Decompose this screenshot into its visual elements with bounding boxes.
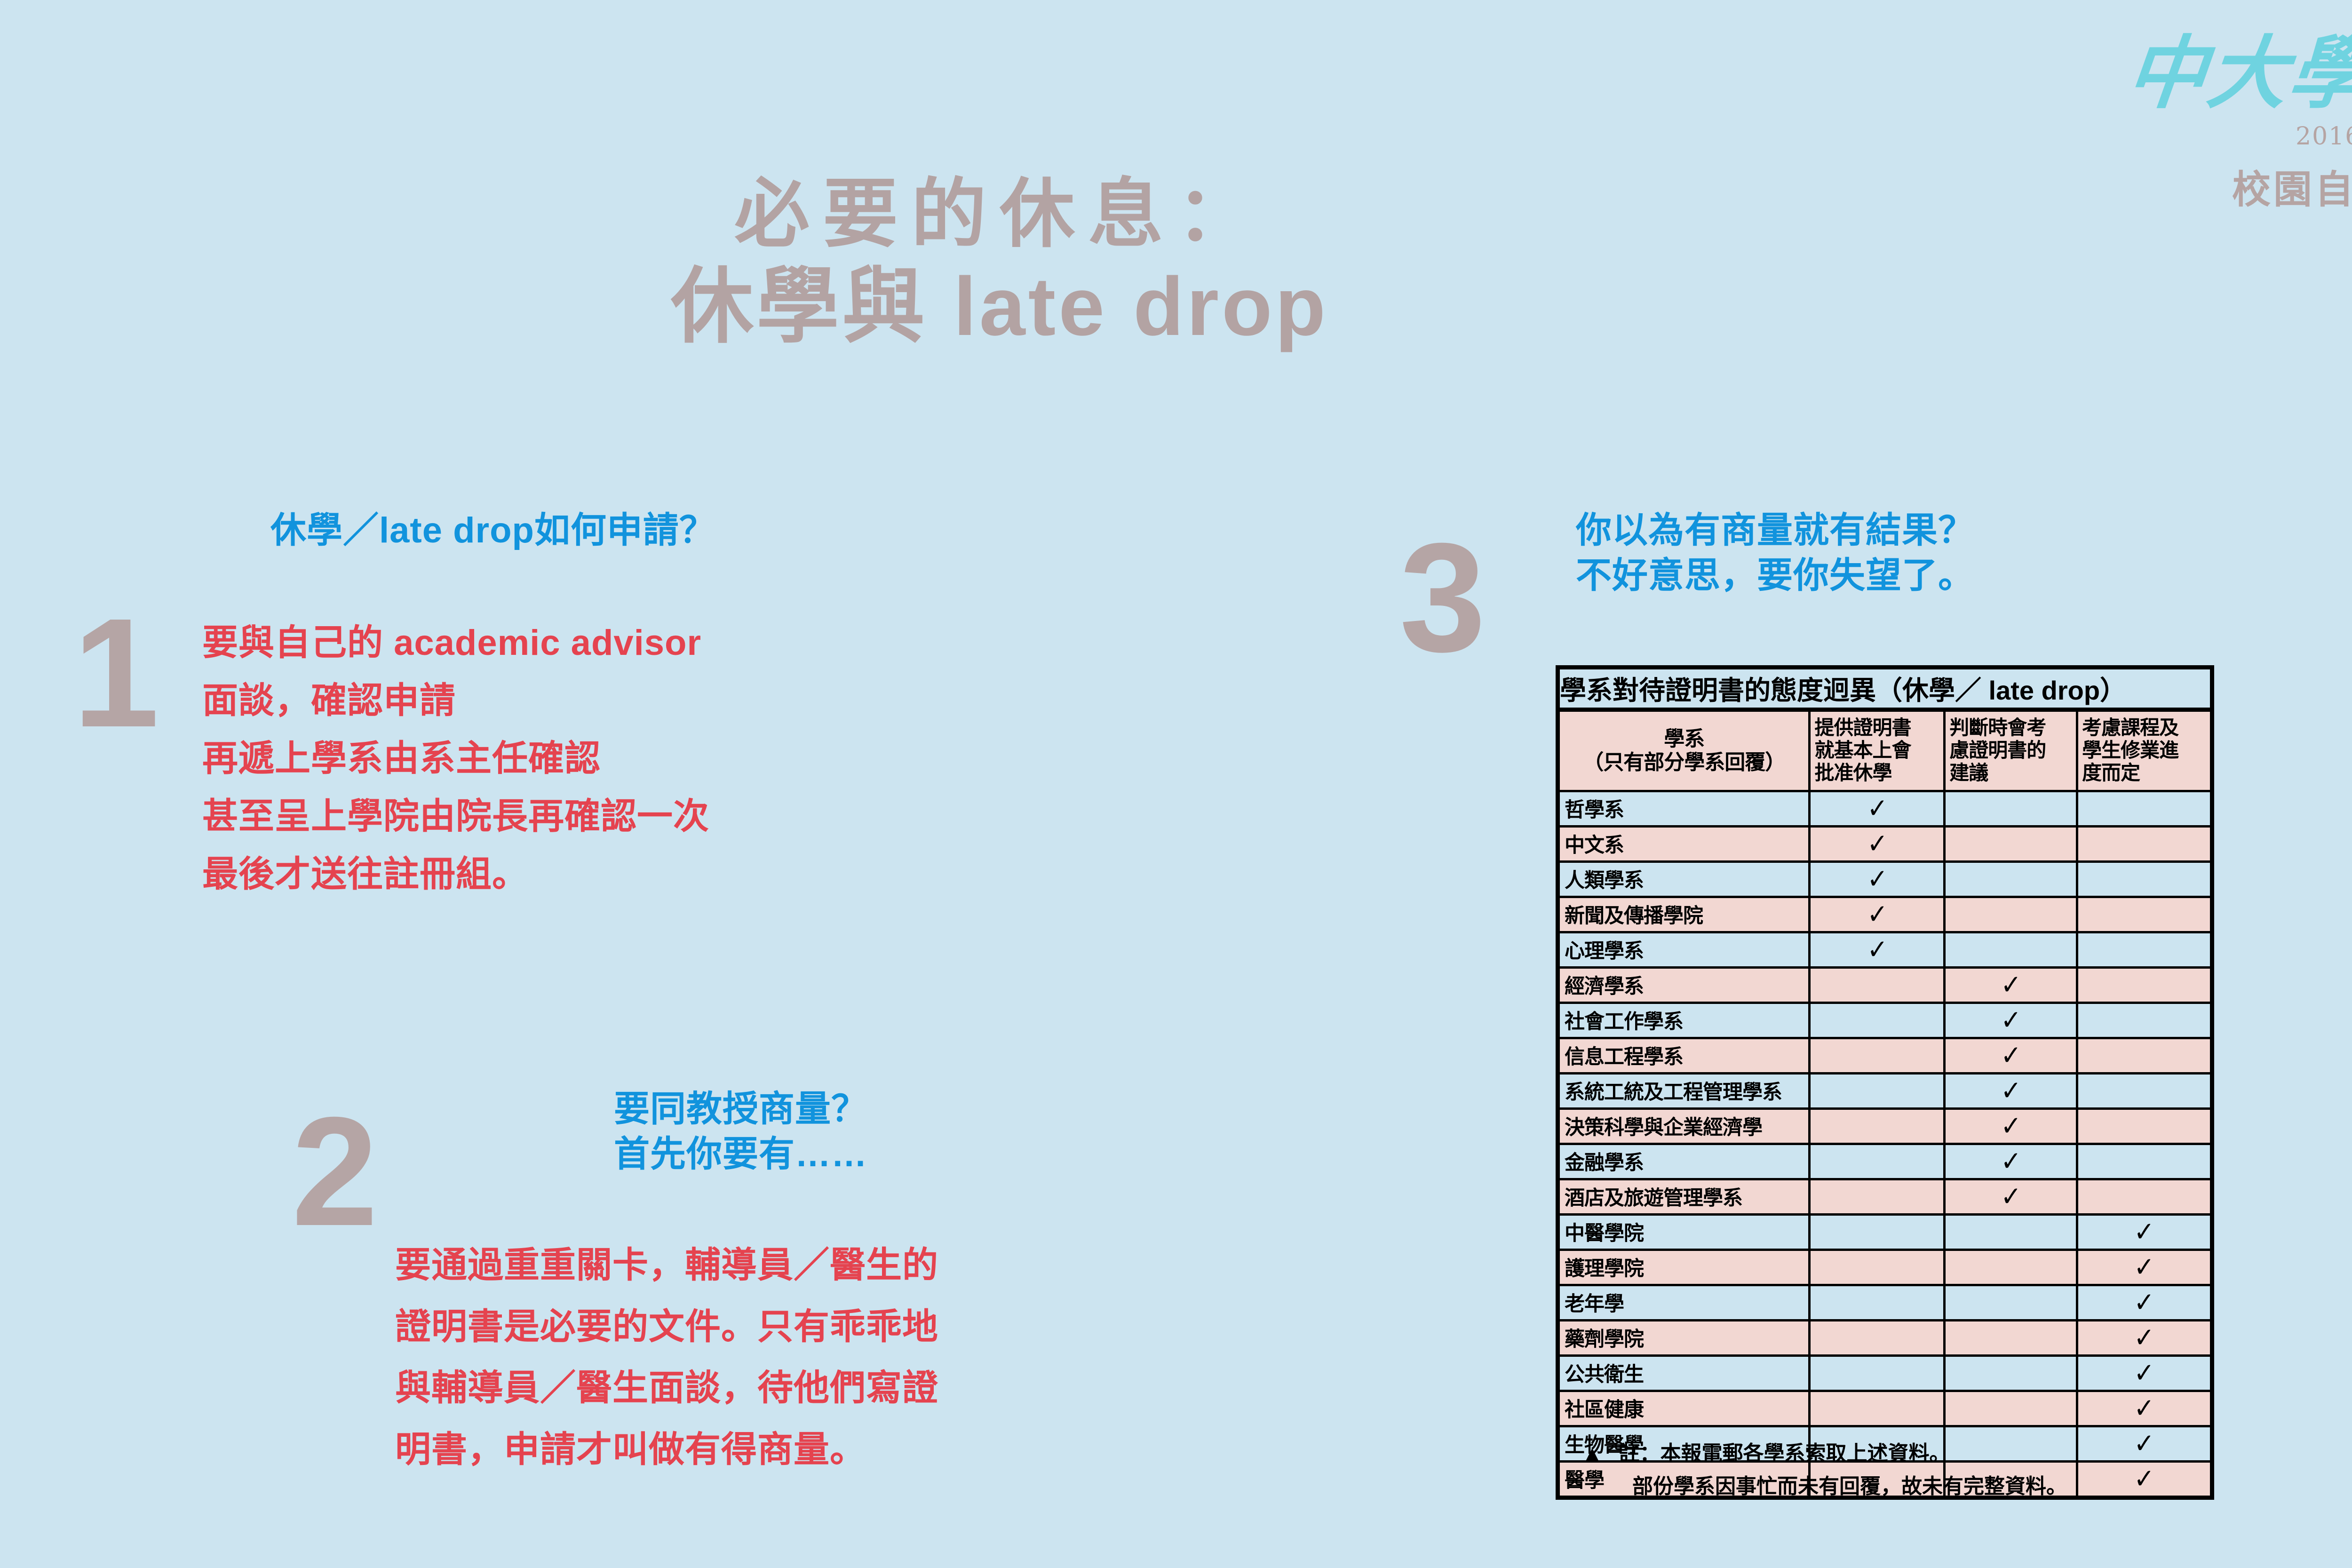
check-icon: ✓ bbox=[1867, 937, 1887, 962]
publication-logo: 中大學生報 bbox=[2123, 33, 2352, 113]
table-row: 中醫學院✓ bbox=[1558, 1214, 2212, 1250]
table-row: 人類學系✓ bbox=[1558, 861, 2212, 897]
issue-date: 2016 年 4 月號 bbox=[2123, 116, 2352, 151]
department-name-cell: 中文系 bbox=[1558, 826, 1810, 861]
department-name-cell: 藥劑學院 bbox=[1558, 1320, 1810, 1355]
approve-with-certificate-cell bbox=[1810, 1391, 1945, 1426]
step-heading-3: 你以為有商量就有結果？ 不好意思，要你失望了。 bbox=[1576, 508, 1974, 598]
depends-on-progress-cell: ✓ bbox=[2077, 1320, 2212, 1355]
department-name-cell: 新聞及傳播學院 bbox=[1558, 897, 1810, 932]
department-name-cell: 心理學系 bbox=[1558, 932, 1810, 967]
consider-certificate-advice-cell bbox=[1945, 897, 2077, 932]
check-icon: ✓ bbox=[2001, 1008, 2021, 1032]
department-name-cell: 社區健康 bbox=[1558, 1391, 1810, 1426]
table-caption-row: 學系對待證明書的態度迥異（休學／ late drop） bbox=[1558, 668, 2212, 710]
step-1-line: 面談，確認申請 bbox=[202, 672, 709, 730]
depends-on-progress-cell: ✓ bbox=[2077, 1250, 2212, 1285]
page-title: 必要的休息： 休學與 late drop bbox=[0, 172, 1999, 353]
table-row: 哲學系✓ bbox=[1558, 791, 2212, 826]
check-icon: ✓ bbox=[2001, 972, 2021, 997]
table-row: 系統工統及工程管理學系✓ bbox=[1558, 1073, 2212, 1108]
check-icon: ✓ bbox=[1867, 831, 1887, 856]
approve-with-certificate-cell bbox=[1810, 1320, 1945, 1355]
depends-on-progress-cell bbox=[2077, 1003, 2212, 1038]
department-name-cell: 信息工程學系 bbox=[1558, 1038, 1810, 1073]
department-name-cell: 社會工作學系 bbox=[1558, 1003, 1810, 1038]
step-body-2: 要通過重重關卡，輔導員／醫生的 證明書是必要的文件。只有乖乖地 與輔導員／醫生面… bbox=[395, 1235, 938, 1481]
table-row: 酒店及旅遊管理學系✓ bbox=[1558, 1179, 2212, 1214]
consider-certificate-advice-cell bbox=[1945, 1355, 2077, 1391]
table-row: 新聞及傳播學院✓ bbox=[1558, 897, 2212, 932]
depends-on-progress-cell: ✓ bbox=[2077, 1355, 2212, 1391]
table-row: 藥劑學院✓ bbox=[1558, 1320, 2212, 1355]
check-icon: ✓ bbox=[2134, 1431, 2154, 1456]
triangle-icon: ▲ bbox=[1581, 1437, 1603, 1470]
depends-on-progress-cell bbox=[2077, 861, 2212, 897]
table-footnote: ▲ 註：本報電郵各學系索取上述資料。 部份學系因事忙而未有回覆，故未有完整資料。 bbox=[1581, 1437, 2067, 1503]
table-row: 老年學✓ bbox=[1558, 1285, 2212, 1320]
department-name-cell: 公共衛生 bbox=[1558, 1355, 1810, 1391]
approve-with-certificate-cell bbox=[1810, 1355, 1945, 1391]
department-name-cell: 中醫學院 bbox=[1558, 1214, 1810, 1250]
step-number-1: 1 bbox=[73, 609, 159, 737]
approve-with-certificate-cell: ✓ bbox=[1810, 932, 1945, 967]
step-body-1: 要與自己的 academic advisor 面談，確認申請 再遞上學系由系主任… bbox=[202, 614, 709, 904]
department-name-cell: 決策科學與企業經濟學 bbox=[1558, 1108, 1810, 1144]
approve-with-certificate-cell bbox=[1810, 967, 1945, 1003]
step-2-line: 與輔導員／醫生面談，待他們寫證 bbox=[395, 1358, 938, 1419]
step-number-2: 2 bbox=[292, 1108, 378, 1235]
depends-on-progress-cell bbox=[2077, 826, 2212, 861]
check-icon: ✓ bbox=[2134, 1396, 2154, 1420]
department-name-cell: 人類學系 bbox=[1558, 861, 1810, 897]
footnote-line-1-row: ▲ 註：本報電郵各學系索取上述資料。 bbox=[1581, 1437, 2067, 1470]
depends-on-progress-cell bbox=[2077, 1073, 2212, 1108]
depends-on-progress-cell bbox=[2077, 932, 2212, 967]
step-1-line: 最後才送往註冊組。 bbox=[202, 845, 709, 903]
check-icon: ✓ bbox=[2134, 1290, 2154, 1314]
step-heading-1: 休學／late drop如何申請？ bbox=[270, 508, 715, 553]
check-icon: ✓ bbox=[1867, 867, 1887, 891]
department-name-cell: 老年學 bbox=[1558, 1285, 1810, 1320]
table-row: 社區健康✓ bbox=[1558, 1391, 2212, 1426]
check-icon: ✓ bbox=[2134, 1361, 2154, 1385]
approve-with-certificate-cell bbox=[1810, 1144, 1945, 1179]
masthead: 中大學生報 2016 年 4 月號 校園自殺專題 bbox=[2123, 33, 2352, 214]
department-name-cell: 護理學院 bbox=[1558, 1250, 1810, 1285]
department-name-cell: 系統工統及工程管理學系 bbox=[1558, 1073, 1810, 1108]
footnote-line-1: 註：本報電郵各學系索取上述資料。 bbox=[1619, 1437, 1950, 1470]
consider-certificate-advice-cell bbox=[1945, 1285, 2077, 1320]
approve-with-certificate-cell: ✓ bbox=[1810, 861, 1945, 897]
consider-certificate-advice-cell: ✓ bbox=[1945, 1179, 2077, 1214]
column-header-consider-certificate-advice: 判斷時會考 慮證明書的 建議 bbox=[1945, 710, 2077, 791]
check-icon: ✓ bbox=[2001, 1149, 2021, 1173]
table-row: 心理學系✓ bbox=[1558, 932, 2212, 967]
step-1-line: 再遞上學系由系主任確認 bbox=[202, 730, 709, 788]
approve-with-certificate-cell bbox=[1810, 1285, 1945, 1320]
table-row: 經濟學系✓ bbox=[1558, 967, 2212, 1003]
depends-on-progress-cell bbox=[2077, 967, 2212, 1003]
depends-on-progress-cell bbox=[2077, 1179, 2212, 1214]
check-icon: ✓ bbox=[2001, 1078, 2021, 1103]
approve-with-certificate-cell bbox=[1810, 1038, 1945, 1073]
column-header-1-line-1: 提供證明書 bbox=[1814, 716, 1940, 739]
approve-with-certificate-cell bbox=[1810, 1214, 1945, 1250]
approve-with-certificate-cell bbox=[1810, 1179, 1945, 1214]
column-header-1-line-2: 就基本上會 bbox=[1814, 739, 1940, 762]
column-header-3-line-1: 考慮課程及 bbox=[2082, 716, 2207, 739]
depends-on-progress-cell bbox=[2077, 897, 2212, 932]
special-topic-label: 校園自殺專題 bbox=[2123, 158, 2352, 214]
department-name-cell: 酒店及旅遊管理學系 bbox=[1558, 1179, 1810, 1214]
consider-certificate-advice-cell bbox=[1945, 932, 2077, 967]
table-row: 信息工程學系✓ bbox=[1558, 1038, 2212, 1073]
table-row: 中文系✓ bbox=[1558, 826, 2212, 861]
depends-on-progress-cell bbox=[2077, 1144, 2212, 1179]
approve-with-certificate-cell bbox=[1810, 1073, 1945, 1108]
approve-with-certificate-cell: ✓ bbox=[1810, 897, 1945, 932]
column-header-1-line-3: 批准休學 bbox=[1814, 762, 1940, 784]
column-header-department-line-2: （只有部分學系回覆） bbox=[1562, 751, 1806, 774]
step-2-line: 明書，申請才叫做有得商量。 bbox=[395, 1419, 938, 1481]
depends-on-progress-cell: ✓ bbox=[2077, 1391, 2212, 1426]
check-icon: ✓ bbox=[1867, 902, 1887, 926]
table-row: 金融學系✓ bbox=[1558, 1144, 2212, 1179]
check-icon: ✓ bbox=[2134, 1255, 2154, 1279]
check-icon: ✓ bbox=[2134, 1466, 2154, 1491]
step-2-heading-line: 要同教授商量？ bbox=[614, 1087, 867, 1132]
page-title-line-2: 休學與 late drop bbox=[0, 261, 1999, 353]
table-row: 護理學院✓ bbox=[1558, 1250, 2212, 1285]
check-icon: ✓ bbox=[2001, 1043, 2021, 1067]
consider-certificate-advice-cell bbox=[1945, 1250, 2077, 1285]
department-attitude-table: 學系對待證明書的態度迥異（休學／ late drop） 學系 （只有部分學系回覆… bbox=[1556, 665, 2214, 1500]
column-header-3-line-2: 學生修業進 bbox=[2082, 739, 2207, 762]
column-header-depends-on-curriculum-progress: 考慮課程及 學生修業進 度而定 bbox=[2077, 710, 2212, 791]
department-attitude-table-wrapper: 學系對待證明書的態度迥異（休學／ late drop） 學系 （只有部分學系回覆… bbox=[1556, 665, 2214, 1500]
check-icon: ✓ bbox=[2001, 1184, 2021, 1209]
consider-certificate-advice-cell bbox=[1945, 791, 2077, 826]
check-icon: ✓ bbox=[2134, 1325, 2154, 1350]
depends-on-progress-cell bbox=[2077, 791, 2212, 826]
consider-certificate-advice-cell: ✓ bbox=[1945, 1108, 2077, 1144]
consider-certificate-advice-cell: ✓ bbox=[1945, 1144, 2077, 1179]
column-header-department: 學系 （只有部分學系回覆） bbox=[1558, 710, 1810, 791]
step-3-heading-line: 不好意思，要你失望了。 bbox=[1576, 553, 1974, 598]
approve-with-certificate-cell bbox=[1810, 1108, 1945, 1144]
table-caption: 學系對待證明書的態度迥異（休學／ late drop） bbox=[1558, 668, 2212, 710]
step-number-3: 3 bbox=[1399, 534, 1486, 661]
department-name-cell: 金融學系 bbox=[1558, 1144, 1810, 1179]
consider-certificate-advice-cell: ✓ bbox=[1945, 967, 2077, 1003]
depends-on-progress-cell: ✓ bbox=[2077, 1214, 2212, 1250]
consider-certificate-advice-cell bbox=[1945, 1320, 2077, 1355]
approve-with-certificate-cell: ✓ bbox=[1810, 826, 1945, 861]
depends-on-progress-cell: ✓ bbox=[2077, 1461, 2212, 1497]
footnote-line-2: 部份學系因事忙而未有回覆，故未有完整資料。 bbox=[1632, 1470, 2067, 1503]
check-icon: ✓ bbox=[1867, 796, 1887, 820]
column-header-2-line-1: 判斷時會考 bbox=[1949, 716, 2073, 739]
consider-certificate-advice-cell bbox=[1945, 861, 2077, 897]
approve-with-certificate-cell bbox=[1810, 1003, 1945, 1038]
consider-certificate-advice-cell bbox=[1945, 1214, 2077, 1250]
approve-with-certificate-cell: ✓ bbox=[1810, 791, 1945, 826]
consider-certificate-advice-cell bbox=[1945, 1391, 2077, 1426]
department-name-cell: 經濟學系 bbox=[1558, 967, 1810, 1003]
check-icon: ✓ bbox=[2001, 1114, 2021, 1138]
table-body: 哲學系✓中文系✓人類學系✓新聞及傳播學院✓心理學系✓經濟學系✓社會工作學系✓信息… bbox=[1558, 791, 2212, 1497]
step-heading-2: 要同教授商量？ 首先你要有…… bbox=[614, 1087, 867, 1177]
step-1-line: 甚至呈上學院由院長再確認一次 bbox=[202, 788, 709, 845]
table-column-header-row: 學系 （只有部分學系回覆） 提供證明書 就基本上會 批准休學 判斷時會考 慮證明… bbox=[1558, 710, 2212, 791]
approve-with-certificate-cell bbox=[1810, 1250, 1945, 1285]
column-header-2-line-2: 慮證明書的 bbox=[1949, 739, 2073, 762]
column-header-2-line-3: 建議 bbox=[1949, 762, 2073, 784]
table-row: 公共衛生✓ bbox=[1558, 1355, 2212, 1391]
step-1-line: 要與自己的 academic advisor bbox=[202, 614, 709, 672]
check-icon: ✓ bbox=[2134, 1219, 2154, 1244]
consider-certificate-advice-cell: ✓ bbox=[1945, 1038, 2077, 1073]
step-3-heading-line: 你以為有商量就有結果？ bbox=[1576, 508, 1974, 553]
step-2-heading-line: 首先你要有…… bbox=[614, 1132, 867, 1177]
column-header-approve-with-certificate: 提供證明書 就基本上會 批准休學 bbox=[1810, 710, 1945, 791]
depends-on-progress-cell: ✓ bbox=[2077, 1426, 2212, 1461]
depends-on-progress-cell: ✓ bbox=[2077, 1285, 2212, 1320]
step-2-line: 要通過重重關卡，輔導員／醫生的 bbox=[395, 1235, 938, 1297]
step-2-line: 證明書是必要的文件。只有乖乖地 bbox=[395, 1297, 938, 1358]
depends-on-progress-cell bbox=[2077, 1108, 2212, 1144]
consider-certificate-advice-cell bbox=[1945, 826, 2077, 861]
table-row: 社會工作學系✓ bbox=[1558, 1003, 2212, 1038]
table-row: 決策科學與企業經濟學✓ bbox=[1558, 1108, 2212, 1144]
column-header-3-line-3: 度而定 bbox=[2082, 762, 2207, 784]
page-title-line-1: 必要的休息： bbox=[0, 172, 1999, 256]
consider-certificate-advice-cell: ✓ bbox=[1945, 1003, 2077, 1038]
department-name-cell: 哲學系 bbox=[1558, 791, 1810, 826]
column-header-department-line-1: 學系 bbox=[1562, 727, 1806, 751]
consider-certificate-advice-cell: ✓ bbox=[1945, 1073, 2077, 1108]
depends-on-progress-cell bbox=[2077, 1038, 2212, 1073]
